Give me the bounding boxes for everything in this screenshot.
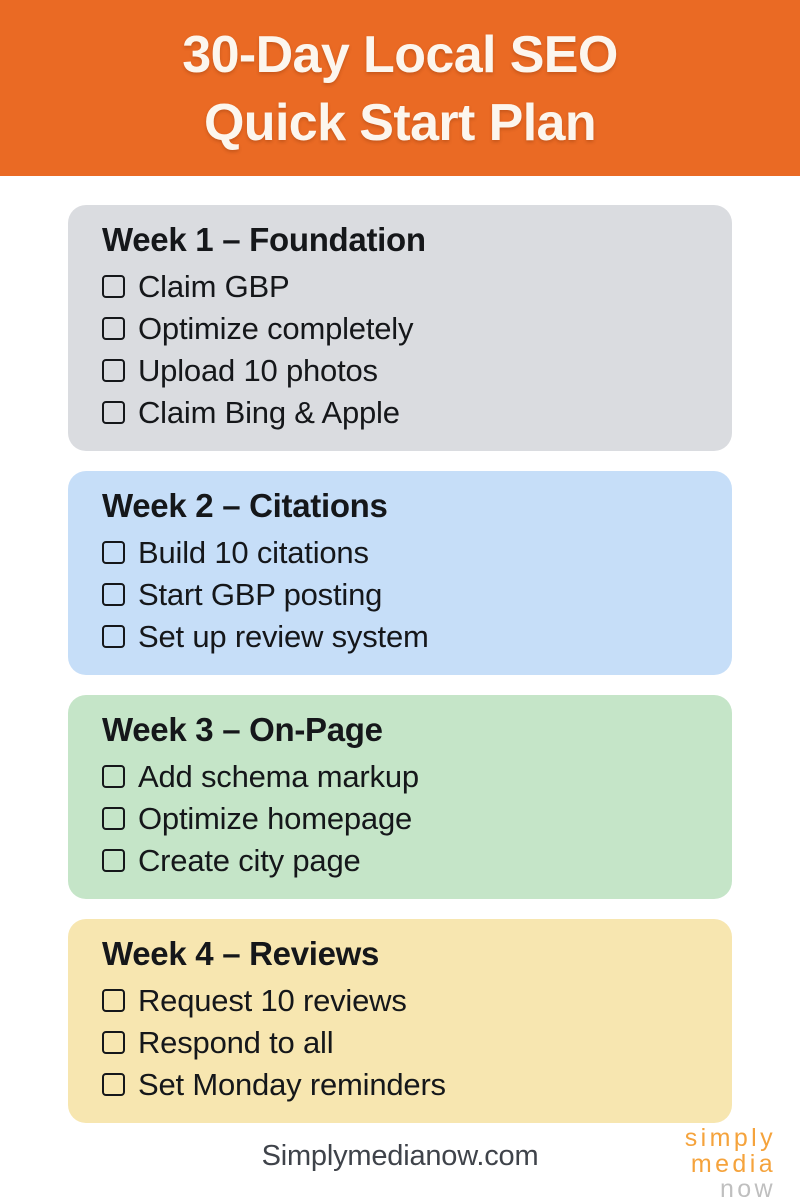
checklist-item-label: Set Monday reminders <box>138 1069 446 1100</box>
checklist-item[interactable]: Upload 10 photos <box>102 349 732 391</box>
checklist-item[interactable]: Set Monday reminders <box>102 1063 732 1105</box>
checkbox-icon[interactable] <box>102 1073 125 1096</box>
checklist-item[interactable]: Request 10 reviews <box>102 979 732 1021</box>
checkbox-icon[interactable] <box>102 359 125 382</box>
week-card-4: Week 4 – Reviews Request 10 reviews Resp… <box>68 919 732 1123</box>
checklist-item[interactable]: Optimize homepage <box>102 797 732 839</box>
checklist-item-label: Respond to all <box>138 1027 333 1058</box>
checklist-item[interactable]: Claim Bing & Apple <box>102 391 732 433</box>
brand-logo-line-now: now <box>640 1177 776 1203</box>
checkbox-icon[interactable] <box>102 401 125 424</box>
checklist-item-label: Optimize completely <box>138 313 413 344</box>
week-card-1-title: Week 1 – Foundation <box>102 221 732 259</box>
checklist-item-label: Optimize homepage <box>138 803 412 834</box>
week-card-2: Week 2 – Citations Build 10 citations St… <box>68 471 732 675</box>
checklist-item-label: Start GBP posting <box>138 579 382 610</box>
checklist-item[interactable]: Create city page <box>102 839 732 881</box>
checklist-item[interactable]: Respond to all <box>102 1021 732 1063</box>
checklist-item-label: Build 10 citations <box>138 537 369 568</box>
checkbox-icon[interactable] <box>102 317 125 340</box>
checkbox-icon[interactable] <box>102 625 125 648</box>
checkbox-icon[interactable] <box>102 583 125 606</box>
page-title-line-2: Quick Start Plan <box>204 90 596 158</box>
checkbox-icon[interactable] <box>102 807 125 830</box>
checkbox-icon[interactable] <box>102 765 125 788</box>
week-card-3-title: Week 3 – On-Page <box>102 711 732 749</box>
checklist-item[interactable]: Optimize completely <box>102 307 732 349</box>
checklist-item[interactable]: Start GBP posting <box>102 573 732 615</box>
checkbox-icon[interactable] <box>102 541 125 564</box>
week-card-4-title: Week 4 – Reviews <box>102 935 732 973</box>
checkbox-icon[interactable] <box>102 275 125 298</box>
week-card-2-checklist: Build 10 citations Start GBP posting Set… <box>102 531 732 657</box>
checklist-item[interactable]: Set up review system <box>102 615 732 657</box>
week-card-3-checklist: Add schema markup Optimize homepage Crea… <box>102 755 732 881</box>
brand-logo-line-media: media <box>640 1152 776 1178</box>
footer: Simplymedianow.com simply media now <box>0 1118 800 1200</box>
week-card-list: Week 1 – Foundation Claim GBP Optimize c… <box>68 205 732 1143</box>
checkbox-icon[interactable] <box>102 989 125 1012</box>
checklist-item[interactable]: Build 10 citations <box>102 531 732 573</box>
checklist-item-label: Claim GBP <box>138 271 290 302</box>
week-card-3: Week 3 – On-Page Add schema markup Optim… <box>68 695 732 899</box>
checklist-item-label: Set up review system <box>138 621 429 652</box>
week-card-1-checklist: Claim GBP Optimize completely Upload 10 … <box>102 265 732 433</box>
checkbox-icon[interactable] <box>102 849 125 872</box>
header-banner: 30-Day Local SEO Quick Start Plan <box>0 0 800 176</box>
week-card-2-title: Week 2 – Citations <box>102 487 732 525</box>
page-title-line-1: 30-Day Local SEO <box>182 22 617 90</box>
checklist-item-label: Add schema markup <box>138 761 419 792</box>
checklist-item[interactable]: Claim GBP <box>102 265 732 307</box>
week-card-1: Week 1 – Foundation Claim GBP Optimize c… <box>68 205 732 451</box>
checklist-item-label: Claim Bing & Apple <box>138 397 400 428</box>
checklist-item[interactable]: Add schema markup <box>102 755 732 797</box>
checkbox-icon[interactable] <box>102 1031 125 1054</box>
brand-logo-line-simply: simply <box>640 1126 776 1152</box>
checklist-item-label: Upload 10 photos <box>138 355 378 386</box>
brand-logo: simply media now <box>640 1126 776 1203</box>
checklist-item-label: Request 10 reviews <box>138 985 407 1016</box>
week-card-4-checklist: Request 10 reviews Respond to all Set Mo… <box>102 979 732 1105</box>
checklist-item-label: Create city page <box>138 845 361 876</box>
